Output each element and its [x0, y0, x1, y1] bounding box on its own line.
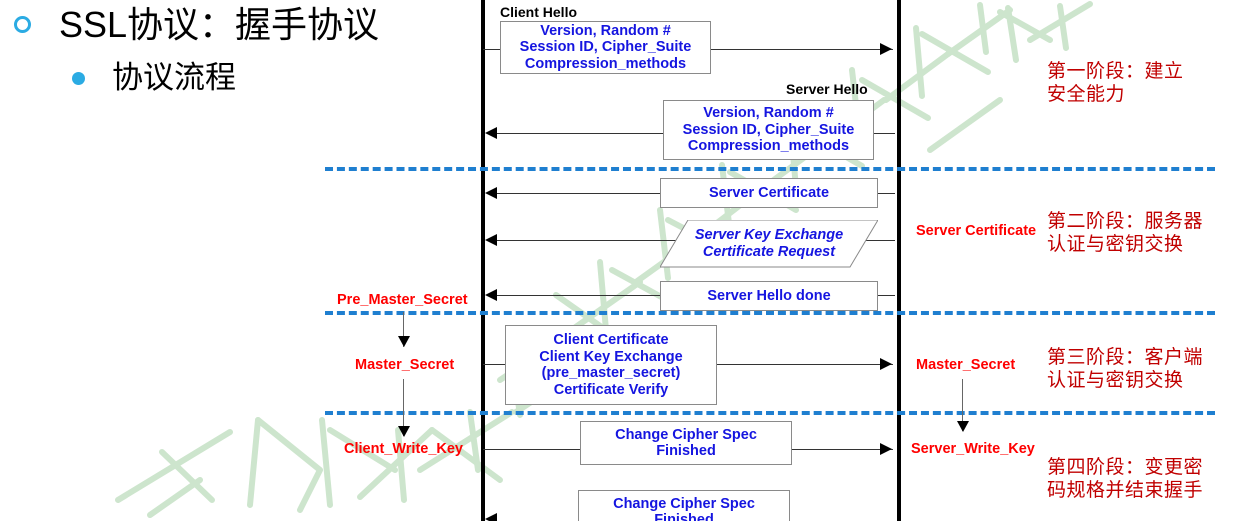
- arrowhead-right-client-change-cipher-spec: [880, 443, 892, 455]
- key-label-master-secret-right: Master_Secret: [916, 357, 1015, 373]
- message-box-client-hello[interactable]: Version, Random # Session ID, Cipher_Sui…: [500, 21, 711, 74]
- message-box-server-change-cipher-spec[interactable]: Change Cipher Spec Finished: [578, 490, 790, 521]
- message-box-server-key-exchange[interactable]: Server Key Exchange Certificate Request: [660, 220, 878, 268]
- arrowhead-left-server-hello: [485, 127, 497, 139]
- arrowhead-left-server-key-exchange: [485, 234, 497, 246]
- arrowhead-right-client-certificate: [880, 358, 892, 370]
- message-box-client-change-cipher-spec[interactable]: Change Cipher Spec Finished: [580, 421, 792, 465]
- message-text-server-hello: Version, Random # Session ID, Cipher_Sui…: [683, 105, 855, 155]
- server-lifeline: [897, 0, 901, 521]
- arrowhead-right-client-hello: [880, 43, 892, 55]
- arrowhead-down-server-write-key: [957, 421, 969, 432]
- phase-note-3: 第三阶段：客户端 认证与密钥交换: [1047, 346, 1203, 392]
- message-text-server-certificate: Server Certificate: [709, 185, 829, 202]
- message-text-server-change-cipher-spec: Change Cipher Spec Finished: [613, 496, 755, 521]
- arrowhead-left-server-certificate: [485, 187, 497, 199]
- phase-note-1: 第一阶段：建立 安全能力: [1047, 60, 1184, 106]
- subtitle-row: 协议流程: [72, 62, 236, 95]
- message-text-client-certificate: Client Certificate Client Key Exchange (…: [539, 332, 682, 398]
- filled-circle-bullet-icon: [72, 72, 85, 85]
- message-text-client-change-cipher-spec: Change Cipher Spec Finished: [615, 427, 757, 460]
- arrowhead-left-server-hello-done: [485, 289, 497, 301]
- phase-note-4: 第四阶段：变更密 码规格并结束握手: [1047, 456, 1203, 502]
- key-label-server-write-key: Server_Write_Key: [911, 441, 1035, 457]
- message-text-client-hello: Version, Random # Session ID, Cipher_Sui…: [520, 23, 692, 73]
- page-title: SSL协议：握手协议: [59, 6, 379, 44]
- page-subtitle: 协议流程: [112, 62, 236, 95]
- message-text-server-hello-done: Server Hello done: [707, 288, 830, 305]
- message-box-server-hello-done[interactable]: Server Hello done: [660, 281, 878, 311]
- message-box-client-certificate[interactable]: Client Certificate Client Key Exchange (…: [505, 325, 717, 405]
- phase-note-2: 第二阶段：服务器 认证与密钥交换: [1047, 210, 1203, 256]
- message-box-server-certificate[interactable]: Server Certificate: [660, 178, 878, 208]
- caption-client-hello: Client Hello: [500, 4, 577, 20]
- hollow-circle-bullet-icon: [14, 16, 31, 33]
- message-text-server-key-exchange: Server Key Exchange Certificate Request: [660, 220, 878, 268]
- message-box-server-hello[interactable]: Version, Random # Session ID, Cipher_Sui…: [663, 100, 874, 160]
- client-lifeline: [481, 0, 485, 521]
- title-row: SSL协议：握手协议: [14, 6, 379, 44]
- arrowhead-left-server-change-cipher-spec: [485, 513, 497, 521]
- key-label-server-certificate: Server Certificate: [916, 223, 1036, 239]
- slide-heading-area: SSL协议：握手协议 协议流程: [0, 0, 470, 521]
- slide-canvas: SSL协议：握手协议 协议流程 Client Hello Version, Ra…: [0, 0, 1259, 521]
- caption-server-hello: Server Hello: [786, 81, 868, 97]
